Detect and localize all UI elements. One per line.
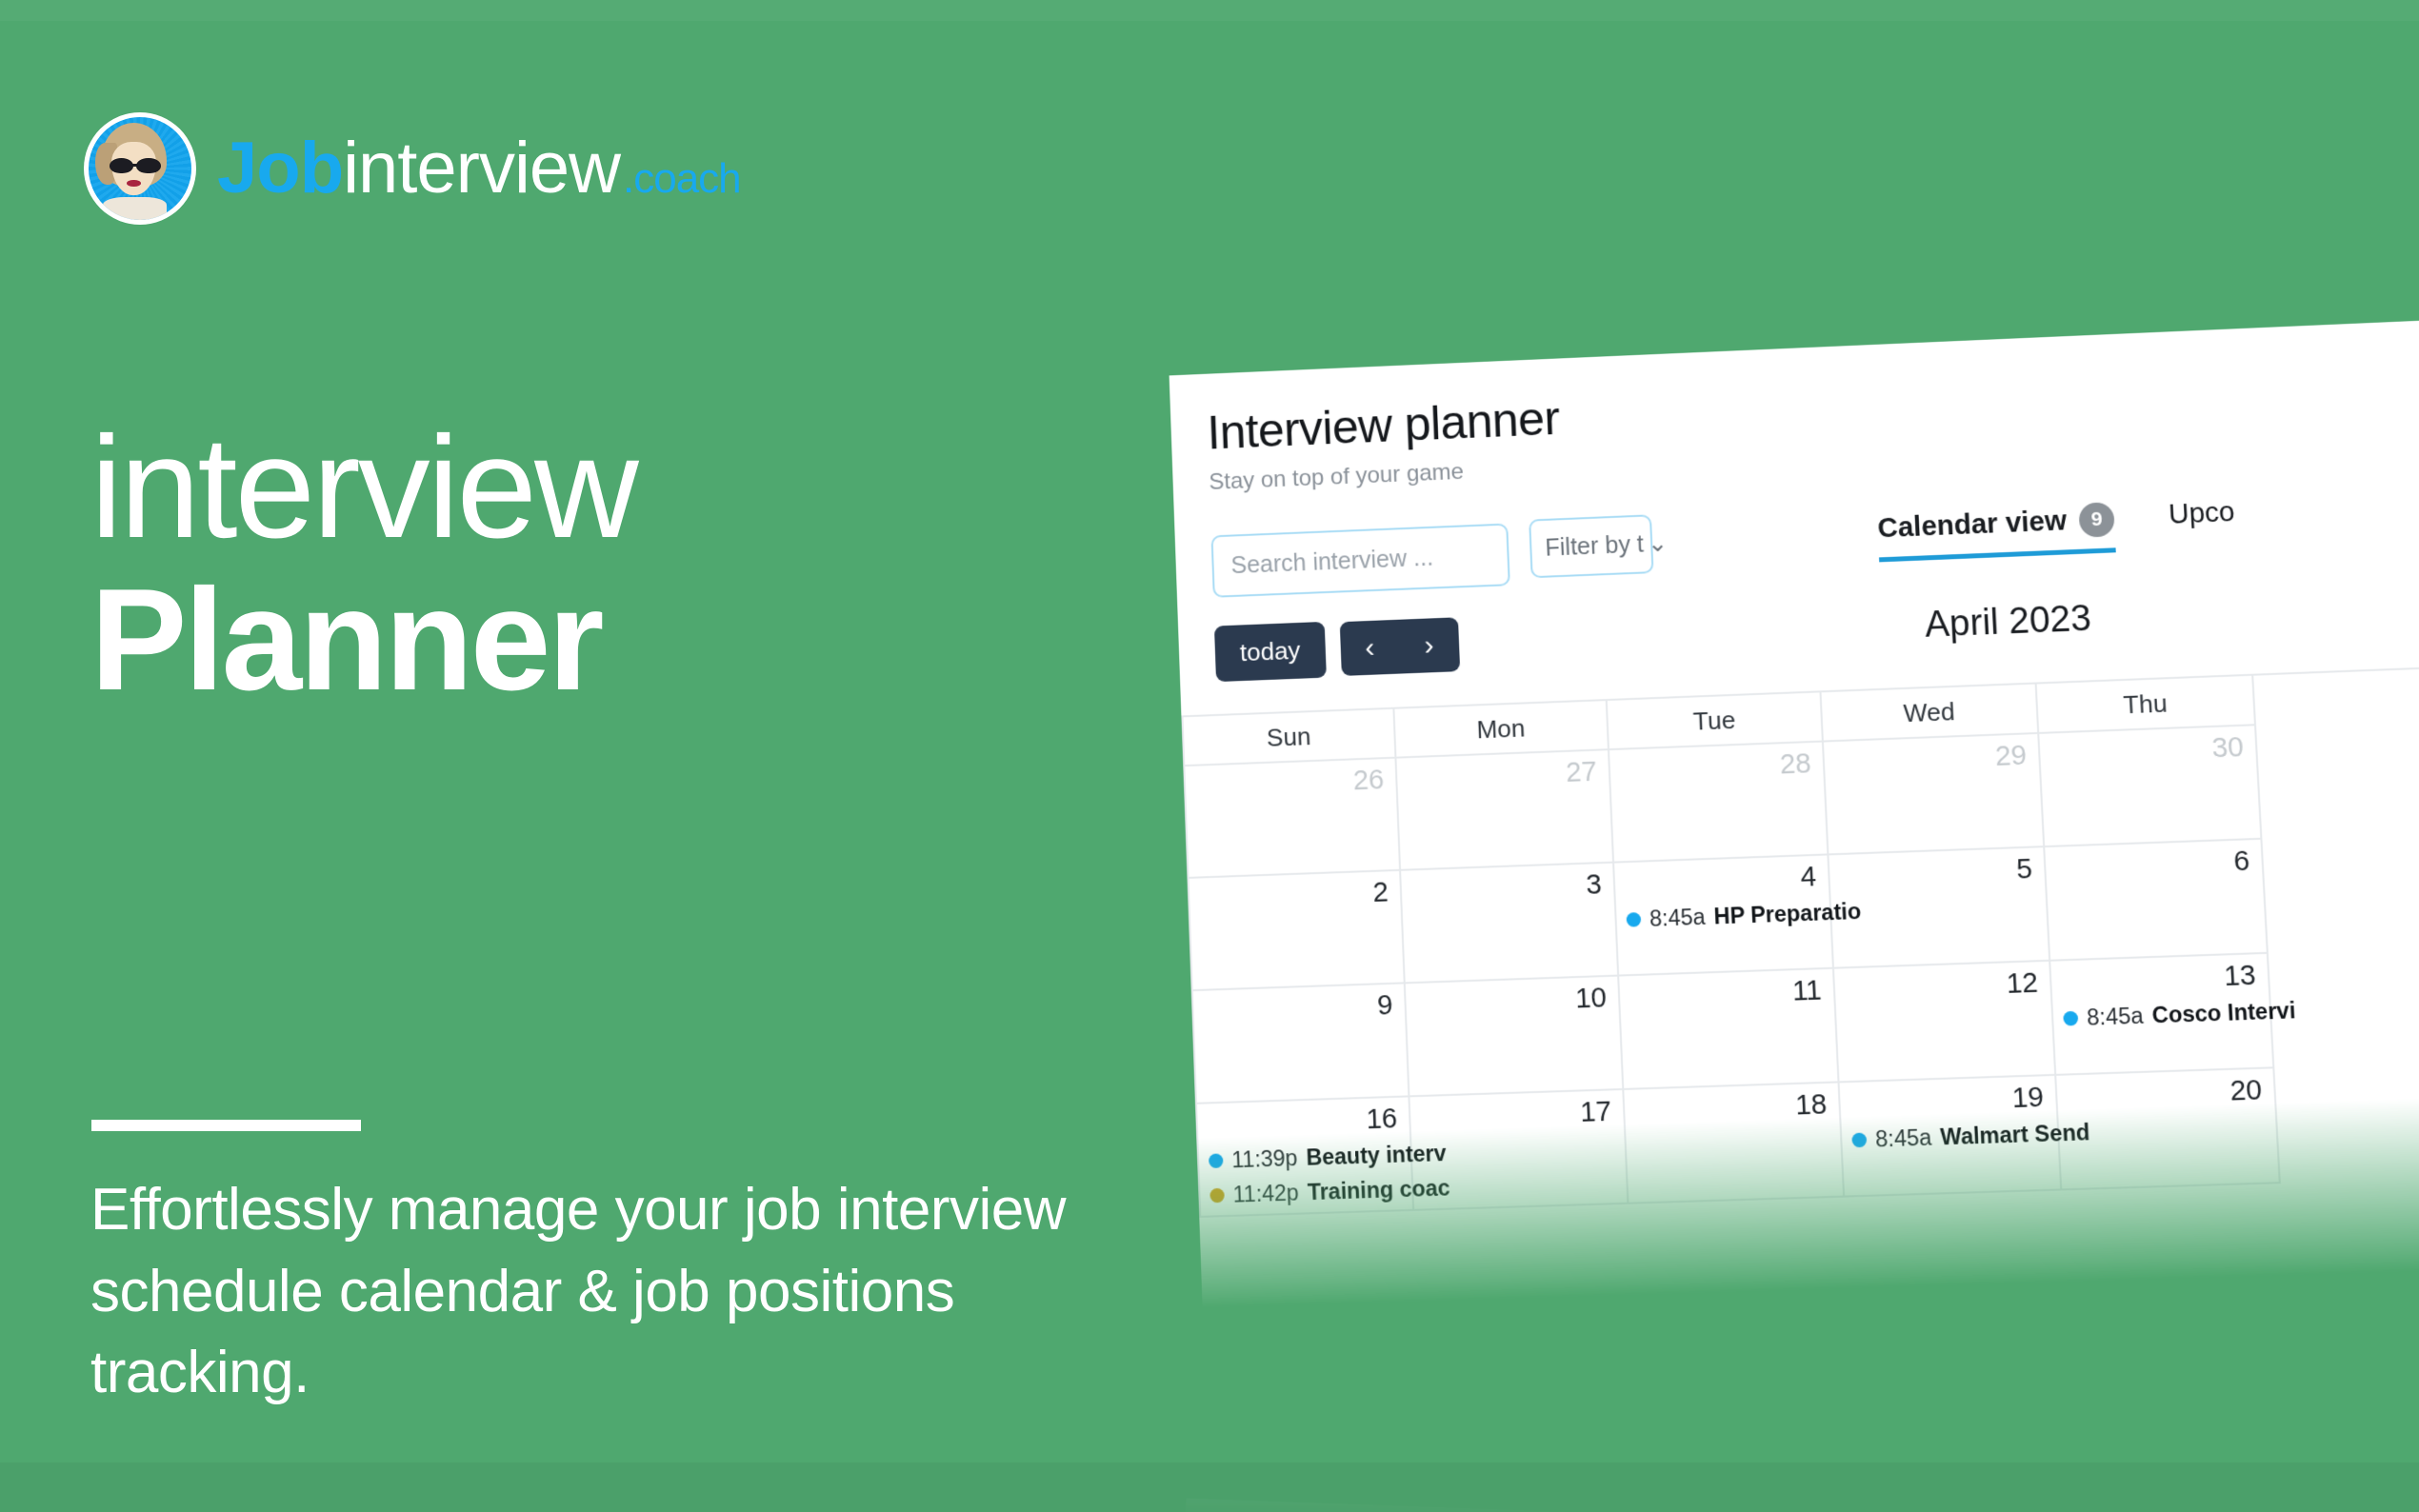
calendar-day-cell[interactable]: 1611:39pBeauty interv11:42pTraining coac bbox=[1197, 1097, 1414, 1218]
chevron-down-icon: ⌄ bbox=[1647, 529, 1668, 559]
prev-next-button-group: ‹ › bbox=[1339, 617, 1459, 676]
event-time: 11:42p bbox=[1232, 1180, 1299, 1208]
calendar-day-cell[interactable]: 9 bbox=[1193, 984, 1410, 1104]
calendar-day-cell[interactable]: 198:45aWalmart Send bbox=[1840, 1076, 2063, 1198]
calendar-event[interactable]: 11:42pTraining coac bbox=[1209, 1177, 1401, 1209]
today-button[interactable]: today bbox=[1214, 622, 1327, 682]
event-time: 8:45a bbox=[1649, 905, 1707, 932]
tab-calendar-view[interactable]: Calendar view 9 bbox=[1877, 502, 2116, 562]
calendar-day-cell[interactable]: 11 bbox=[1619, 969, 1839, 1090]
calendar-day-cell[interactable]: 2 bbox=[1190, 871, 1406, 991]
calendar-day-cell[interactable]: 10 bbox=[1406, 977, 1625, 1098]
screenshot-reflection: 11:42p Training coac bbox=[1186, 1314, 2419, 1512]
headline-line-1: interview bbox=[90, 419, 636, 558]
event-color-dot bbox=[1209, 1188, 1225, 1204]
calendar-day-number: 29 bbox=[1833, 743, 2027, 778]
calendar-day-cell[interactable]: 12 bbox=[1834, 962, 2056, 1084]
calendar-day-number: 5 bbox=[1839, 856, 2033, 891]
tab-upcoming-label: Upco bbox=[2168, 497, 2235, 531]
calendar-day-number: 12 bbox=[1845, 969, 2039, 1004]
calendar-day-number: 10 bbox=[1415, 985, 1607, 1019]
calendar-day-number: 20 bbox=[2067, 1077, 2263, 1111]
brand-name-interview: interview bbox=[343, 132, 620, 205]
calendar-day-cell[interactable]: 28 bbox=[1609, 743, 1829, 864]
calendar-day-number: 30 bbox=[2049, 734, 2245, 769]
event-title: Cosco Intervi bbox=[2151, 998, 2296, 1029]
calendar-month-label: April 2023 bbox=[1924, 599, 2092, 647]
calendar-day-number: 19 bbox=[1849, 1084, 2045, 1119]
app-window: Interview planner Stay on top of your ga… bbox=[1170, 313, 2419, 1307]
calendar-weekday-tue: Tue bbox=[1608, 692, 1824, 750]
event-color-dot bbox=[2063, 1011, 2078, 1026]
brand-wordmark: Jobinterview.coach bbox=[217, 132, 741, 205]
avatar-sunglasses-icon bbox=[84, 112, 196, 225]
calendar-day-cell[interactable]: 30 bbox=[2039, 726, 2262, 847]
event-color-dot bbox=[1626, 912, 1641, 927]
calendar-weekday-wed: Wed bbox=[1822, 685, 2040, 743]
calendar-day-cell[interactable]: 5 bbox=[1829, 847, 2050, 969]
tab-calendar-view-badge: 9 bbox=[2078, 502, 2115, 538]
calendar-grid: SunMonTueWedThu 26272829302348:45aHP Pre… bbox=[1181, 657, 2419, 1218]
tab-calendar-view-label: Calendar view bbox=[1877, 506, 2068, 545]
filter-by-type-select[interactable]: Filter by t ⌄ bbox=[1529, 514, 1653, 578]
calendar-day-number: 16 bbox=[1207, 1105, 1397, 1140]
event-color-dot bbox=[1209, 1153, 1224, 1168]
calendar-day-cell[interactable]: 138:45aCosco Intervi bbox=[2050, 954, 2274, 1076]
calendar-event[interactable]: 8:45aHP Preparatio bbox=[1626, 900, 1818, 932]
calendar-day-number: 27 bbox=[1407, 759, 1598, 794]
calendar-day-cell[interactable]: 29 bbox=[1824, 734, 2045, 855]
top-edge-band bbox=[0, 0, 2419, 21]
calendar-day-number: 4 bbox=[1625, 864, 1817, 899]
calendar-body: 26272829302348:45aHP Preparatio569101112… bbox=[1185, 709, 2419, 1218]
event-time: 11:39p bbox=[1231, 1145, 1298, 1174]
calendar-day-number: 17 bbox=[1420, 1099, 1612, 1133]
filter-label: Filter by t bbox=[1545, 530, 1645, 562]
calendar-day-cell[interactable]: 20 bbox=[2056, 1068, 2281, 1190]
next-month-button[interactable]: › bbox=[1398, 617, 1459, 673]
calendar-day-number: 3 bbox=[1410, 871, 1602, 905]
event-color-dot bbox=[1851, 1133, 1867, 1148]
event-time: 8:45a bbox=[2087, 1003, 2145, 1031]
calendar-day-number: 11 bbox=[1629, 977, 1823, 1011]
calendar-day-number: 18 bbox=[1634, 1091, 1828, 1125]
brand-logo[interactable]: Jobinterview.coach bbox=[84, 112, 741, 225]
hero-headline: interview Planner bbox=[90, 419, 636, 710]
search-input[interactable]: Search interview ... bbox=[1210, 524, 1509, 598]
tab-upcoming[interactable]: Upco bbox=[2168, 497, 2236, 543]
headline-line-2: Planner bbox=[90, 571, 636, 710]
calendar-weekday-sun: Sun bbox=[1183, 709, 1396, 766]
calendar-event[interactable]: 8:45aWalmart Send bbox=[1851, 1121, 2047, 1153]
calendar-day-cell[interactable]: 27 bbox=[1396, 750, 1614, 871]
brand-name-coach: .coach bbox=[623, 158, 741, 200]
calendar-day-number: 6 bbox=[2055, 847, 2250, 883]
calendar-day-cell[interactable]: 18 bbox=[1624, 1083, 1845, 1204]
search-placeholder: Search interview ... bbox=[1230, 544, 1433, 579]
calendar-day-cell[interactable]: 26 bbox=[1185, 759, 1401, 879]
bottom-edge-band bbox=[0, 1462, 2419, 1512]
app-screenshot-stage: Interview planner Stay on top of your ga… bbox=[1186, 371, 2419, 1304]
calendar-day-cell[interactable]: 6 bbox=[2045, 840, 2269, 962]
divider-rule bbox=[91, 1120, 361, 1131]
calendar-day-number: 9 bbox=[1203, 992, 1393, 1026]
event-time: 8:45a bbox=[1875, 1124, 1932, 1152]
calendar-day-cell[interactable]: 48:45aHP Preparatio bbox=[1614, 855, 1834, 976]
calendar-day-number: 13 bbox=[2061, 962, 2257, 997]
prev-month-button[interactable]: ‹ bbox=[1339, 620, 1400, 676]
hero-body-text: Effortlessly manage your job interview s… bbox=[90, 1169, 1129, 1414]
calendar-day-cell[interactable]: 17 bbox=[1409, 1090, 1629, 1211]
calendar-day-cell[interactable]: 3 bbox=[1401, 864, 1619, 985]
calendar-weekday-thu: Thu bbox=[2037, 676, 2256, 734]
calendar-weekday-mon: Mon bbox=[1394, 701, 1609, 759]
toolbar: Search interview ... Filter by t ⌄ Calen… bbox=[1210, 478, 2419, 598]
calendar-day-number: 26 bbox=[1195, 766, 1385, 801]
view-tabs: Calendar view 9 Upco bbox=[1877, 493, 2237, 563]
calendar-day-number: 2 bbox=[1199, 879, 1389, 913]
brand-name-job: Job bbox=[217, 132, 343, 205]
calendar-event[interactable]: 11:39pBeauty interv bbox=[1209, 1142, 1399, 1174]
calendar-event[interactable]: 8:45aCosco Intervi bbox=[2063, 999, 2259, 1031]
calendar-day-number: 28 bbox=[1619, 750, 1811, 786]
